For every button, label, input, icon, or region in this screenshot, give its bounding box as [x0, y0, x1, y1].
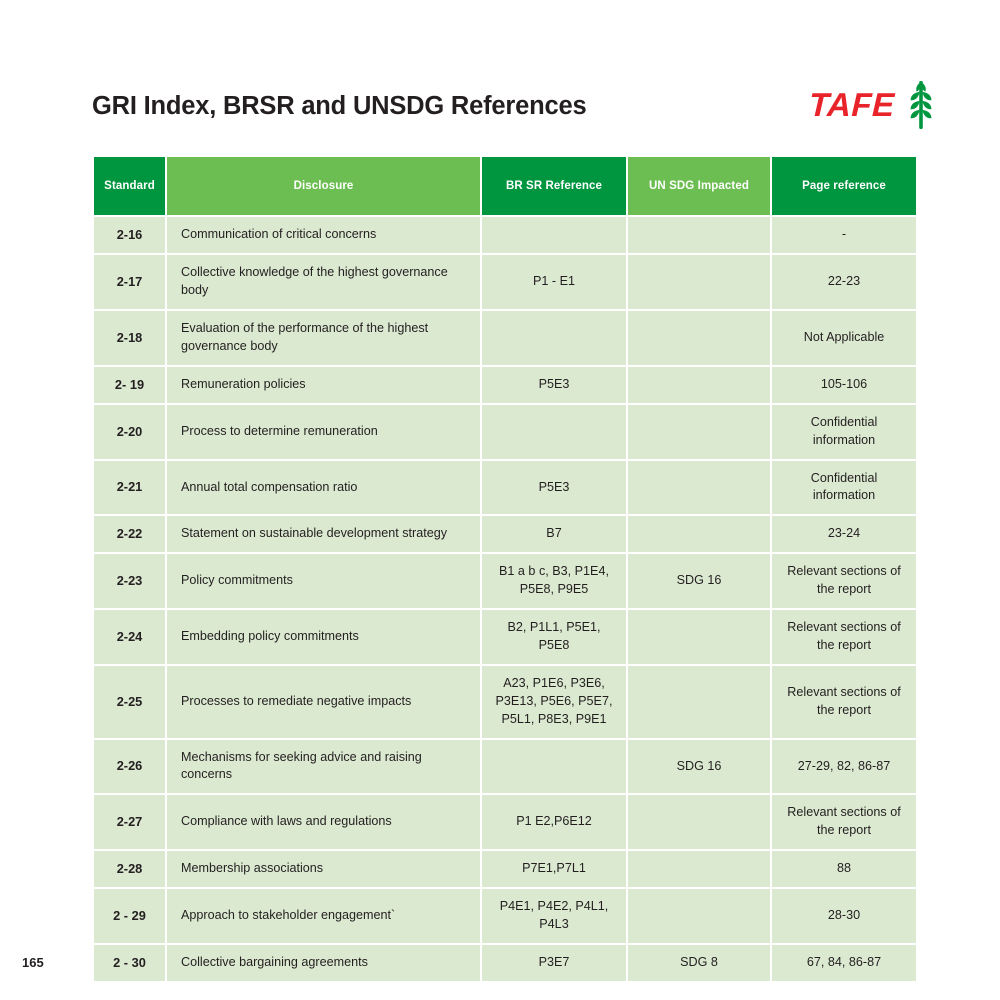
cell-page-reference: Relevant sections of the report: [772, 554, 916, 608]
table-row: 2 - 30Collective bargaining agreementsP3…: [94, 945, 916, 981]
table-row: 2-17Collective knowledge of the highest …: [94, 255, 916, 309]
cell-standard: 2-23: [94, 554, 165, 608]
cell-standard: 2-22: [94, 516, 165, 552]
wheat-stalk-icon: [904, 78, 938, 130]
table-row: 2-27Compliance with laws and regulations…: [94, 795, 916, 849]
cell-brsr-reference: P3E7: [482, 945, 626, 981]
cell-standard: 2 - 30: [94, 945, 165, 981]
cell-disclosure: Processes to remediate negative impacts: [167, 666, 480, 738]
cell-standard: 2-21: [94, 461, 165, 515]
cell-page-reference: Confidential information: [772, 405, 916, 459]
cell-disclosure: Evaluation of the performance of the hig…: [167, 311, 480, 365]
cell-brsr-reference: P5E3: [482, 367, 626, 403]
cell-page-reference: 27-29, 82, 86-87: [772, 740, 916, 794]
cell-brsr-reference: [482, 740, 626, 794]
cell-standard: 2-18: [94, 311, 165, 365]
table-row: 2-21Annual total compensation ratioP5E3C…: [94, 461, 916, 515]
cell-page-reference: 67, 84, 86-87: [772, 945, 916, 981]
cell-disclosure: Annual total compensation ratio: [167, 461, 480, 515]
cell-un-sdg-impacted: SDG 16: [628, 740, 770, 794]
cell-page-reference: 22-23: [772, 255, 916, 309]
table-header-row: Standard Disclosure BR SR Reference UN S…: [94, 157, 916, 215]
table-row: 2-20Process to determine remunerationCon…: [94, 405, 916, 459]
cell-brsr-reference: P1 E2,P6E12: [482, 795, 626, 849]
cell-un-sdg-impacted: [628, 610, 770, 664]
cell-disclosure: Collective knowledge of the highest gove…: [167, 255, 480, 309]
table-row: 2-24Embedding policy commitmentsB2, P1L1…: [94, 610, 916, 664]
cell-page-reference: Relevant sections of the report: [772, 795, 916, 849]
tafe-wordmark: TAFE: [809, 88, 896, 121]
table-row: 2-25Processes to remediate negative impa…: [94, 666, 916, 738]
cell-disclosure: Statement on sustainable development str…: [167, 516, 480, 552]
cell-un-sdg-impacted: [628, 889, 770, 943]
cell-brsr-reference: B1 a b c, B3, P1E4, P5E8, P9E5: [482, 554, 626, 608]
column-header-standard: Standard: [94, 157, 165, 215]
cell-brsr-reference: P1 - E1: [482, 255, 626, 309]
column-header-brsr-reference: BR SR Reference: [482, 157, 626, 215]
cell-un-sdg-impacted: [628, 367, 770, 403]
table-row: 2 - 29Approach to stakeholder engagement…: [94, 889, 916, 943]
page-number: 165: [22, 955, 44, 970]
cell-brsr-reference: B2, P1L1, P5E1, P5E8: [482, 610, 626, 664]
cell-page-reference: -: [772, 217, 916, 253]
cell-page-reference: 28-30: [772, 889, 916, 943]
cell-page-reference: Confidential information: [772, 461, 916, 515]
cell-standard: 2- 19: [94, 367, 165, 403]
cell-standard: 2-24: [94, 610, 165, 664]
cell-un-sdg-impacted: [628, 217, 770, 253]
cell-standard: 2-28: [94, 851, 165, 887]
cell-page-reference: Relevant sections of the report: [772, 610, 916, 664]
cell-brsr-reference: B7: [482, 516, 626, 552]
cell-brsr-reference: P4E1, P4E2, P4L1, P4L3: [482, 889, 626, 943]
table-body: 2-16Communication of critical concerns-2…: [94, 217, 916, 981]
cell-un-sdg-impacted: [628, 311, 770, 365]
cell-standard: 2 - 29: [94, 889, 165, 943]
page-header: GRI Index, BRSR and UNSDG References TAF…: [0, 0, 1000, 150]
cell-disclosure: Remuneration policies: [167, 367, 480, 403]
cell-disclosure: Process to determine remuneration: [167, 405, 480, 459]
cell-disclosure: Mechanisms for seeking advice and raisin…: [167, 740, 480, 794]
table-row: 2-23Policy commitmentsB1 a b c, B3, P1E4…: [94, 554, 916, 608]
cell-un-sdg-impacted: [628, 516, 770, 552]
cell-page-reference: 105-106: [772, 367, 916, 403]
cell-disclosure: Collective bargaining agreements: [167, 945, 480, 981]
cell-brsr-reference: P5E3: [482, 461, 626, 515]
table-row: 2-22Statement on sustainable development…: [94, 516, 916, 552]
cell-un-sdg-impacted: [628, 795, 770, 849]
table-row: 2-28Membership associationsP7E1,P7L188: [94, 851, 916, 887]
cell-brsr-reference: [482, 217, 626, 253]
cell-standard: 2-27: [94, 795, 165, 849]
cell-un-sdg-impacted: [628, 405, 770, 459]
gri-index-table: Standard Disclosure BR SR Reference UN S…: [92, 155, 918, 983]
cell-disclosure: Compliance with laws and regulations: [167, 795, 480, 849]
cell-brsr-reference: [482, 311, 626, 365]
cell-disclosure: Membership associations: [167, 851, 480, 887]
cell-page-reference: 88: [772, 851, 916, 887]
cell-disclosure: Embedding policy commitments: [167, 610, 480, 664]
cell-page-reference: 23-24: [772, 516, 916, 552]
cell-un-sdg-impacted: SDG 16: [628, 554, 770, 608]
cell-un-sdg-impacted: [628, 851, 770, 887]
cell-standard: 2-16: [94, 217, 165, 253]
cell-standard: 2-20: [94, 405, 165, 459]
table-row: 2-16Communication of critical concerns-: [94, 217, 916, 253]
cell-disclosure: Communication of critical concerns: [167, 217, 480, 253]
cell-un-sdg-impacted: [628, 666, 770, 738]
cell-disclosure: Approach to stakeholder engagement`: [167, 889, 480, 943]
cell-page-reference: Relevant sections of the report: [772, 666, 916, 738]
column-header-disclosure: Disclosure: [167, 157, 480, 215]
cell-un-sdg-impacted: [628, 461, 770, 515]
cell-brsr-reference: [482, 405, 626, 459]
table-row: 2-26Mechanisms for seeking advice and ra…: [94, 740, 916, 794]
cell-standard: 2-26: [94, 740, 165, 794]
cell-standard: 2-17: [94, 255, 165, 309]
cell-brsr-reference: P7E1,P7L1: [482, 851, 626, 887]
cell-page-reference: Not Applicable: [772, 311, 916, 365]
cell-disclosure: Policy commitments: [167, 554, 480, 608]
tafe-logo: TAFE: [809, 78, 938, 130]
cell-brsr-reference: A23, P1E6, P3E6, P3E13, P5E6, P5E7, P5L1…: [482, 666, 626, 738]
table-row: 2-18Evaluation of the performance of the…: [94, 311, 916, 365]
cell-un-sdg-impacted: SDG 8: [628, 945, 770, 981]
table-header: Standard Disclosure BR SR Reference UN S…: [94, 157, 916, 215]
column-header-un-sdg-impacted: UN SDG Impacted: [628, 157, 770, 215]
cell-un-sdg-impacted: [628, 255, 770, 309]
page-title: GRI Index, BRSR and UNSDG References: [92, 92, 586, 121]
column-header-page-reference: Page reference: [772, 157, 916, 215]
table-row: 2- 19Remuneration policiesP5E3105-106: [94, 367, 916, 403]
cell-standard: 2-25: [94, 666, 165, 738]
